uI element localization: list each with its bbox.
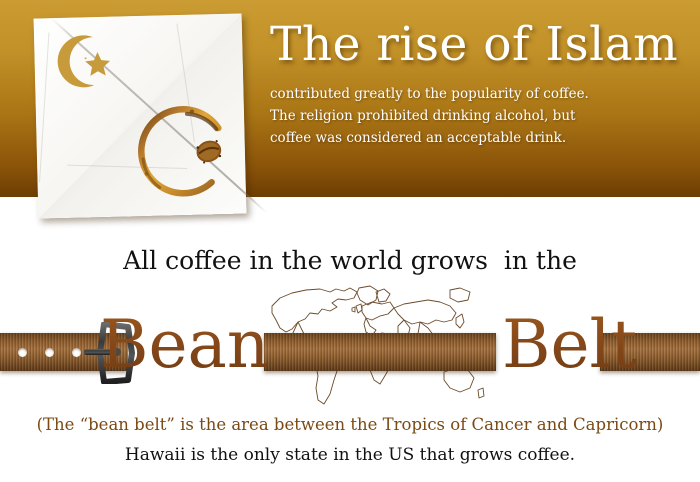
page-title: The rise of Islam bbox=[270, 14, 690, 76]
header-text-block: The rise of Islam contributed greatly to… bbox=[270, 14, 690, 149]
belt-word-bean: Bean bbox=[100, 306, 269, 384]
hawaii-fact-caption: Hawaii is the only state in the US that … bbox=[0, 445, 700, 465]
header-body-line-1: contributed greatly to the popularity of… bbox=[270, 83, 690, 105]
bean-belt-graphic: Bean Belt bbox=[0, 280, 700, 410]
header-body-line-3: coffee was considered an acceptable drin… bbox=[270, 127, 690, 149]
coffee-bean-icon bbox=[195, 138, 224, 165]
bean-belt-definition-caption: (The “bean belt” is the area between the… bbox=[0, 415, 700, 434]
belt-hole bbox=[72, 348, 81, 357]
belt-strap-middle bbox=[264, 333, 496, 371]
infographic-page: The rise of Islam contributed greatly to… bbox=[0, 0, 700, 482]
header-body-line-2: The religion prohibited drinking alcohol… bbox=[270, 105, 690, 127]
bean-belt-headline: All coffee in the world grows in the bbox=[0, 246, 700, 275]
belt-word-belt: Belt bbox=[502, 306, 637, 384]
belt-hole bbox=[18, 348, 27, 357]
folded-paper-graphic bbox=[34, 13, 247, 218]
crescent-star-icon bbox=[52, 31, 117, 93]
header-body-text: contributed greatly to the popularity of… bbox=[270, 83, 690, 149]
belt-hole bbox=[45, 348, 54, 357]
